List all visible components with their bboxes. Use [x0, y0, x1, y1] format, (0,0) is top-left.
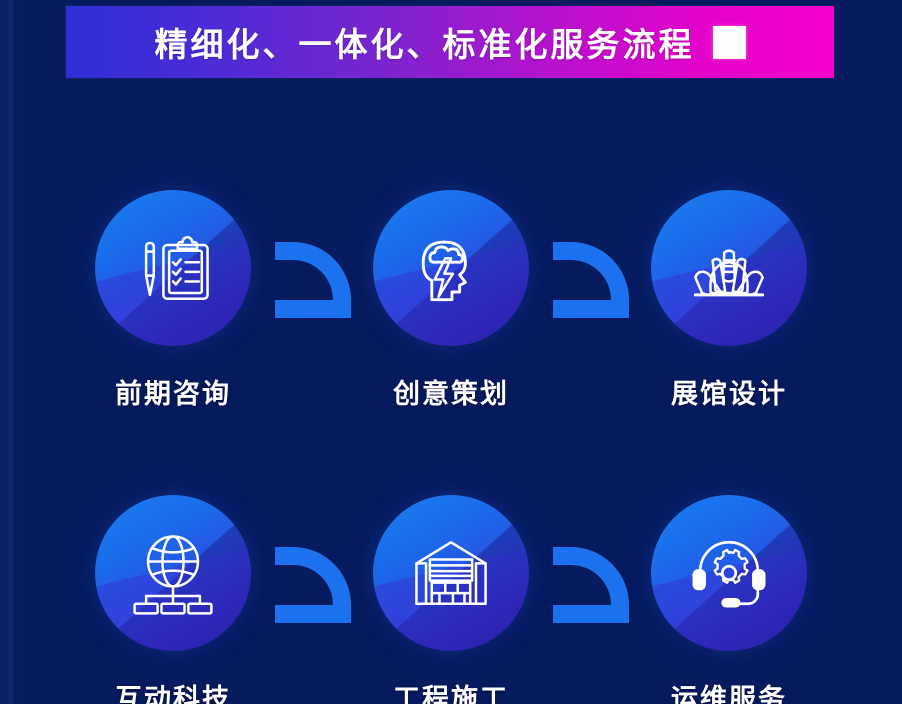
header-banner: 精细化、一体化、标准化服务流程 [66, 6, 834, 78]
step-icon-circle [651, 495, 807, 651]
infographic-page: 精细化、一体化、标准化服务流程 [0, 0, 902, 704]
process-flow-grid: 前期咨询 创意策划 [0, 190, 902, 704]
warehouse-construction-icon [403, 525, 499, 621]
arrow-chevron-right-icon [549, 238, 633, 324]
step-icon-circle [95, 495, 251, 651]
step-icon-circle [95, 190, 251, 346]
clipboard-checklist-pen-icon [125, 220, 221, 316]
arrow-chevron-right-icon [271, 238, 355, 324]
flow-arrow-4 [549, 543, 633, 629]
process-row-2: 互动科技 [0, 495, 902, 704]
globe-network-icon [125, 525, 221, 621]
white-square-marker-icon [713, 26, 746, 59]
header-banner-content: 精细化、一体化、标准化服务流程 [155, 18, 746, 66]
step-label: 创意策划 [393, 372, 509, 411]
page-title: 精细化、一体化、标准化服务流程 [155, 18, 695, 66]
headset-gear-icon [681, 525, 777, 621]
step-label: 前期咨询 [115, 372, 231, 411]
flow-arrow-2 [549, 238, 633, 324]
flow-arrow-3 [271, 543, 355, 629]
step-label: 展馆设计 [671, 372, 787, 411]
step-icon-circle [651, 190, 807, 346]
step-label: 互动科技 [115, 677, 231, 704]
step-label: 工程施工 [393, 677, 509, 704]
process-row-1: 前期咨询 创意策划 [0, 190, 902, 495]
arrow-chevron-right-icon [549, 543, 633, 629]
step-icon-circle [373, 495, 529, 651]
arrow-chevron-right-icon [271, 543, 355, 629]
flow-arrow-1 [271, 238, 355, 324]
step-icon-circle [373, 190, 529, 346]
step-label: 运维服务 [671, 677, 787, 704]
exhibition-pavilion-icon [681, 220, 777, 316]
head-brain-lightning-icon [403, 220, 499, 316]
